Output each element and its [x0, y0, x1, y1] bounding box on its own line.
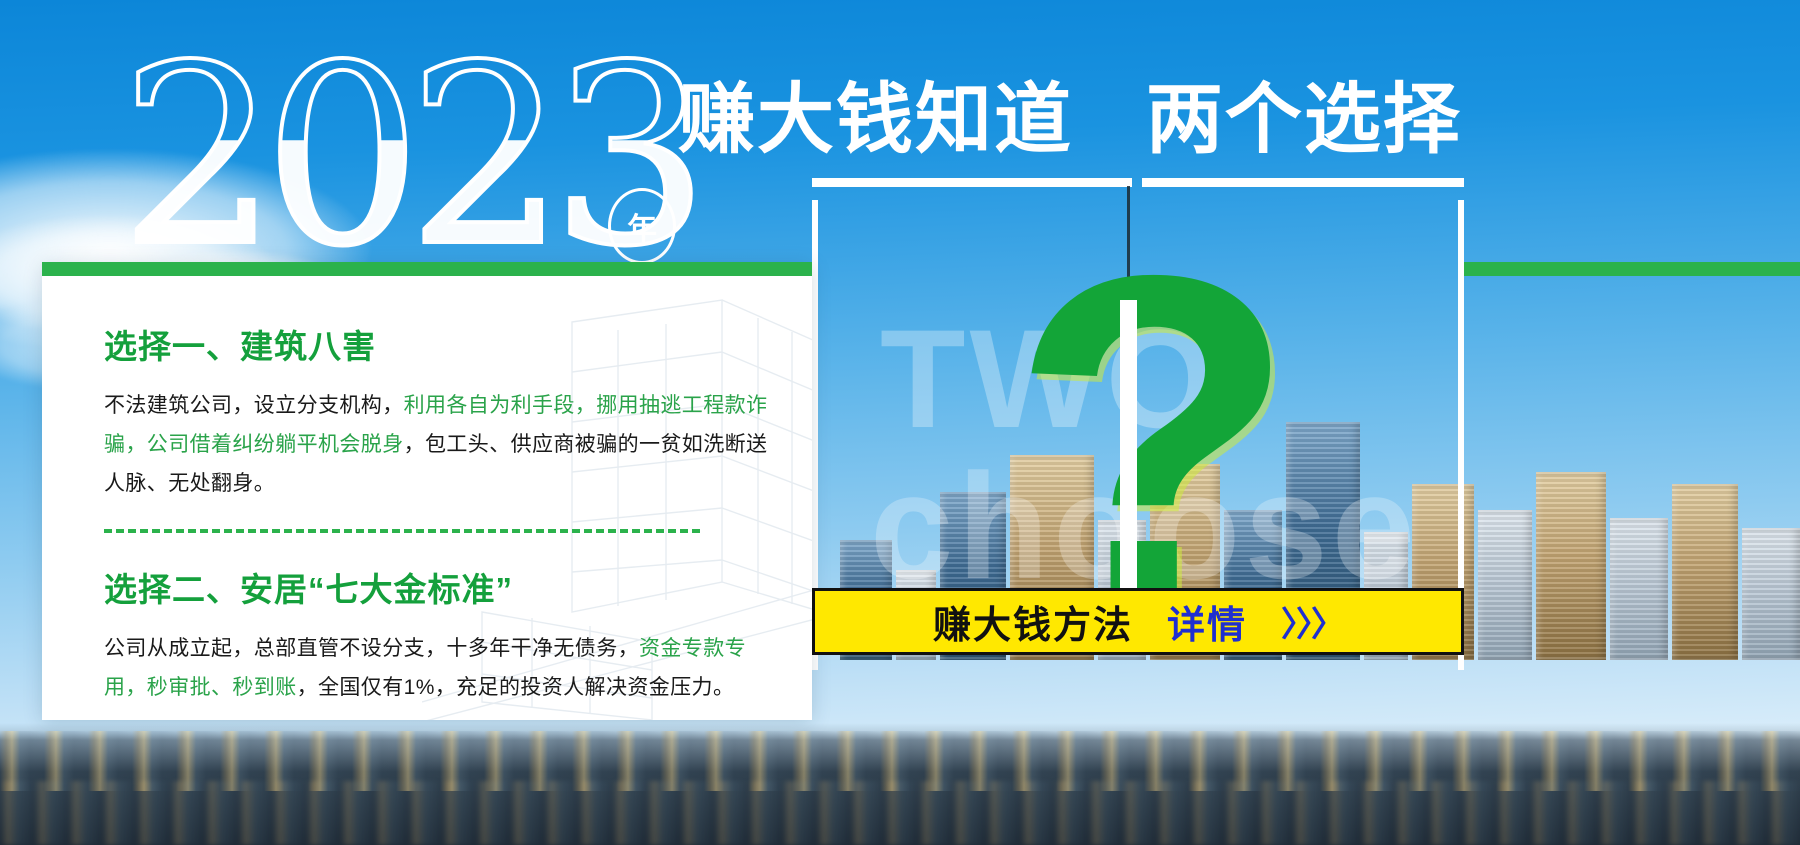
- year-suffix-badge: 年: [608, 188, 676, 264]
- section-body-2: 公司从成立起，总部直管不设分支，十多年干净无债务，资金专款专用，秒审批、秒到账，…: [104, 629, 768, 707]
- cta-label: 赚大钱方法: [933, 594, 1133, 649]
- chevron-right-icon: 〉〉〉: [1281, 597, 1343, 646]
- card-body: 选择一、建筑八害 不法建筑公司，设立分支机构，利用各自为利手段，挪用抽逃工程款诈…: [42, 262, 812, 707]
- text-run: ，全国仅有1%，充足的投资人解决资金压力。: [297, 676, 735, 699]
- headline-part2: 两个选择: [1146, 77, 1462, 163]
- green-accent-bar-right: [1464, 262, 1800, 276]
- content-card: 选择一、建筑八害 不法建筑公司，设立分支机构，利用各自为利手段，挪用抽逃工程款诈…: [42, 262, 812, 720]
- cta-details-link[interactable]: 详情: [1167, 594, 1247, 649]
- page-title: 赚大钱知道 两个选择: [678, 78, 1462, 162]
- text-run: 公司从成立起，总部直管不设分支，十多年干净无债务，: [104, 637, 639, 660]
- poster-canvas: 20232023 年 赚大钱知道 两个选择 TWO choose ?: [0, 0, 1800, 845]
- section-body-1: 不法建筑公司，设立分支机构，利用各自为利手段，挪用抽逃工程款诈骗，公司借着纠纷躺…: [104, 386, 768, 503]
- question-mark-highlight: [1120, 300, 1137, 600]
- section-title-1: 选择一、建筑八害: [104, 320, 768, 368]
- cta-banner[interactable]: 赚大钱方法 详情 〉〉〉: [812, 588, 1464, 655]
- text-run: 不法建筑公司，设立分支机构，: [104, 394, 404, 417]
- bottom-city-strip: [0, 723, 1800, 845]
- section-title-2: 选择二、安居“七大金标准”: [104, 563, 768, 611]
- headline-part1: 赚大钱知道: [678, 77, 1073, 163]
- section-divider: [104, 529, 700, 533]
- water-reflection: [0, 781, 1800, 845]
